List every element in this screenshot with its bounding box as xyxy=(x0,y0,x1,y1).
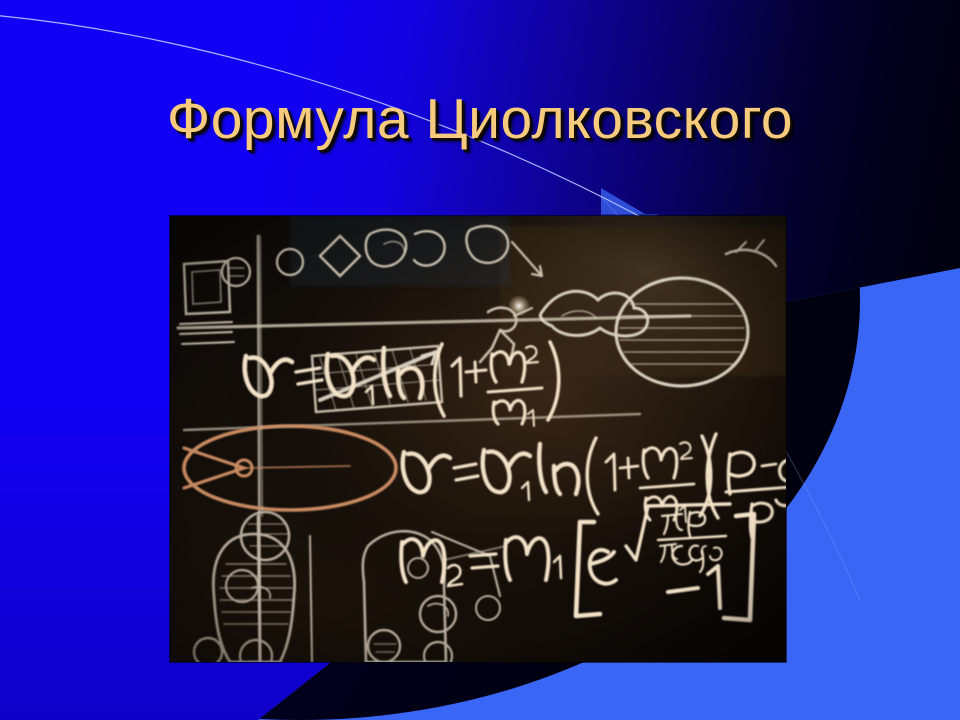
chalkboard-photo-content xyxy=(170,216,786,662)
presentation-slide: Формула Циолковского xyxy=(0,0,960,720)
slide-title: Формула Циолковского xyxy=(0,86,960,152)
chalkboard-photo xyxy=(170,216,786,662)
